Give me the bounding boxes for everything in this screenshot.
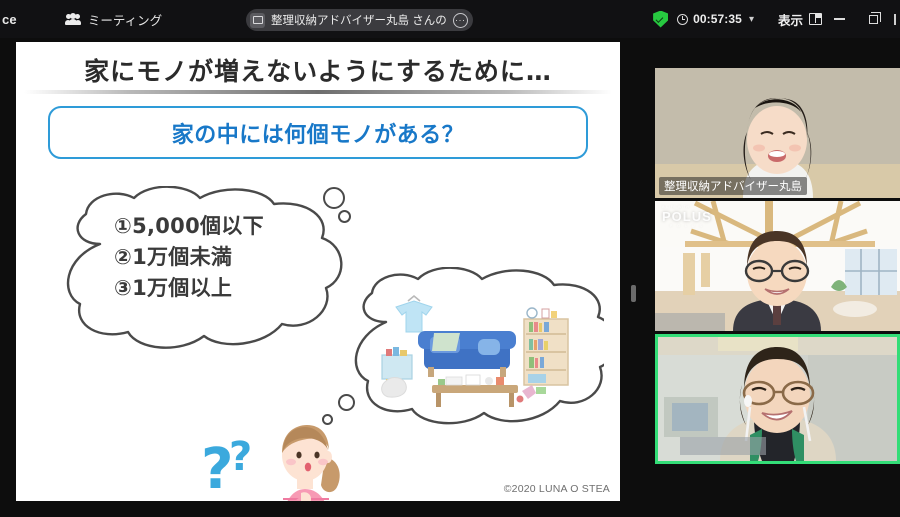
layout-icon [809,13,822,25]
restore-button[interactable] [856,0,890,38]
polus-watermark-tagline: A LIFE WITH [662,205,712,209]
people-icon [65,13,81,26]
meeting-tab-label: ミーティング [88,10,162,29]
topbar-left-group: ce chevron-down-icon ミーティング [0,0,162,38]
polus-watermark-logo: A LIFE WITH POLUS P O L U S [662,205,712,228]
polus-watermark-text: POLUS [662,209,712,224]
options-list: ①5,000個以下 ②1万個未満 ③1万個以上 [114,211,359,304]
slide-copyright: ©2020 LUNA O STEA [504,483,610,495]
slide-title: 家にモノが増えないようにするために… [16,52,620,88]
polus-watermark-subtext: P O L U S [662,224,712,228]
video-feed [658,337,897,461]
window-edge-handle[interactable] [890,0,900,38]
meeting-timer[interactable]: 00:57:35 ▾ [677,12,754,26]
title-divider [24,90,612,94]
share-more-options-button[interactable]: ··· [453,13,468,28]
minimize-icon [834,18,845,20]
question-box-text: 家の中には何個モノがある？ [172,117,465,149]
topbar-right-group: 00:57:35 ▾ 表示 [653,0,900,38]
option-item-1: ①5,000個以下 [114,211,359,242]
restore-icon [869,15,878,24]
share-status-label: 整理収納アドバイザー丸島 さんの [271,12,447,28]
edge-bar-icon [894,14,896,25]
video-tile-participant-2[interactable]: A LIFE WITH POLUS P O L U S [655,201,900,331]
share-status-chip[interactable]: 整理収納アドバイザー丸島 さんの ··· [246,9,473,31]
app-name-label: ce [0,12,21,27]
participant-name-badge: 整理収納アドバイザー丸島 [659,177,807,195]
meeting-tab[interactable]: ミーティング [65,10,162,29]
thought-bubble-tail-large [323,187,345,209]
meeting-timer-value: 00:57:35 [693,12,742,26]
option-item-3: ③1万個以上 [114,273,359,304]
window-topbar: ce chevron-down-icon ミーティング 整理収納アドバイザー丸島… [0,0,900,38]
meeting-window: ce chevron-down-icon ミーティング 整理収納アドバイザー丸島… [0,0,900,517]
video-roster: 整理収納アドバイザー丸島 [655,68,900,470]
chevron-down-icon[interactable]: chevron-down-icon [21,0,47,38]
timer-chevron-down-icon[interactable]: ▾ [749,14,754,25]
messy-room-thought-bubble [346,267,604,432]
minimize-button[interactable] [822,0,856,38]
options-thought-bubble: ①5,000個以下 ②1万個未満 ③1万個以上 [58,186,358,356]
option-item-2: ②1万個未満 [114,242,359,273]
thinking-person-illustration [259,417,349,501]
panel-resize-handle[interactable] [631,285,636,302]
video-tile-participant-3-active-speaker[interactable] [655,334,900,464]
thought-bubble-tail-small [338,210,351,223]
screen-share-icon [250,13,265,28]
svg-text:?: ? [229,434,252,480]
video-tile-presenter[interactable]: 整理収納アドバイザー丸島 [655,68,900,198]
shared-screen-slide[interactable]: 家にモノが増えないようにするために… 家の中には何個モノがある？ ①5,000個… [16,42,620,501]
question-box: 家の中には何個モノがある？ [48,106,588,159]
clock-icon [677,14,688,25]
shield-check-icon[interactable] [653,11,668,28]
view-button[interactable]: 表示 [778,10,822,29]
room-bubble-tail-large [338,394,355,411]
view-button-label: 表示 [778,10,803,29]
